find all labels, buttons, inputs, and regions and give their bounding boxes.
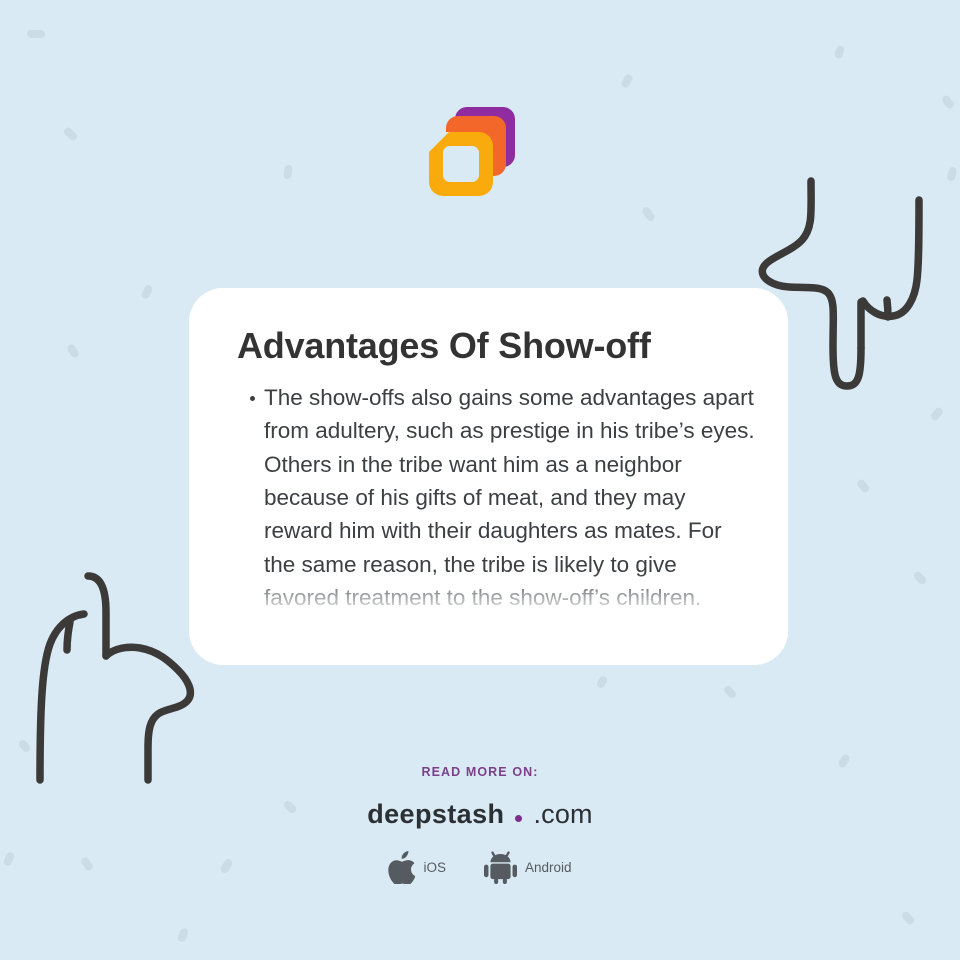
brand-dot-icon (515, 815, 522, 822)
android-badge-label: Android (525, 860, 572, 875)
brand-name: deepstash (367, 799, 504, 829)
confetti-speck (912, 570, 927, 586)
brand-tld: .com (533, 799, 592, 829)
android-robot-icon (484, 851, 517, 884)
confetti-speck (596, 675, 609, 689)
confetti-speck (66, 343, 80, 359)
confetti-speck (834, 45, 846, 60)
confetti-speck (930, 406, 945, 422)
card-body: The show-offs also gains some advantages… (189, 381, 788, 649)
confetti-speck (856, 478, 871, 494)
android-store-badge[interactable]: Android (484, 851, 572, 884)
confetti-speck (722, 684, 737, 700)
confetti-speck (62, 126, 79, 142)
store-badge-row: iOS Android (0, 851, 960, 884)
ios-store-badge[interactable]: iOS (388, 851, 446, 884)
confetti-speck (941, 94, 956, 110)
confetti-speck (140, 284, 153, 300)
confetti-speck (900, 910, 915, 926)
confetti-speck (27, 30, 45, 39)
poster-canvas: Advantages Of Show-off The show-offs als… (0, 0, 960, 960)
confetti-speck (17, 738, 31, 753)
ios-badge-label: iOS (423, 860, 446, 875)
confetti-speck (177, 927, 190, 943)
confetti-speck (641, 206, 656, 223)
pointing-hand-up-line-art (18, 558, 218, 793)
idea-card: Advantages Of Show-off The show-offs als… (189, 288, 788, 665)
read-more-label: READ MORE ON: (0, 765, 960, 779)
list-item: The show-offs also gains some advantages… (264, 381, 756, 614)
confetti-speck (946, 166, 957, 182)
footer: READ MORE ON: deepstash .com iOS (0, 765, 960, 884)
bullet-list: The show-offs also gains some advantages… (189, 381, 788, 614)
confetti-speck (620, 73, 634, 89)
apple-logo-icon (388, 851, 415, 884)
deepstash-stacked-cards-logo (429, 107, 515, 195)
confetti-speck (283, 164, 293, 179)
brand-wordmark[interactable]: deepstash .com (0, 801, 960, 828)
page-title: Advantages Of Show-off (189, 288, 788, 367)
